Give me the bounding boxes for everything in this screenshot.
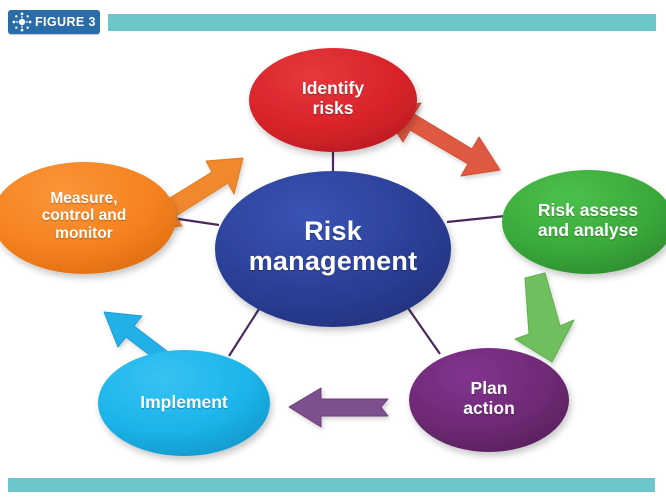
node-plan-action[interactable] bbox=[409, 348, 569, 452]
figure-badge: FIGURE 3 bbox=[8, 10, 100, 34]
figure-badge-label: FIGURE 3 bbox=[35, 15, 96, 29]
figure-header: FIGURE 3 bbox=[0, 0, 666, 40]
figure-canvas: FIGURE 3 bbox=[0, 0, 666, 500]
risk-management-cycle-diagram: Risk management Identify risks Risk asse… bbox=[0, 36, 666, 480]
node-implement[interactable] bbox=[98, 350, 270, 456]
spoke-to-risk-assess bbox=[447, 216, 505, 222]
spoke-to-implement bbox=[229, 309, 259, 356]
node-risk-management-center[interactable] bbox=[215, 171, 451, 327]
node-identify-risks[interactable] bbox=[249, 48, 417, 152]
sunburst-icon bbox=[11, 11, 33, 33]
arrow-assess-to-plan bbox=[515, 273, 574, 362]
spoke-to-plan-action bbox=[408, 308, 440, 354]
footer-divider-rule bbox=[8, 478, 655, 492]
node-measure-control-and-monitor[interactable] bbox=[0, 162, 176, 274]
arrow-plan-to-implement bbox=[289, 388, 388, 427]
header-divider-rule bbox=[108, 14, 656, 31]
node-risk-assess-and-analyse[interactable] bbox=[502, 170, 666, 274]
